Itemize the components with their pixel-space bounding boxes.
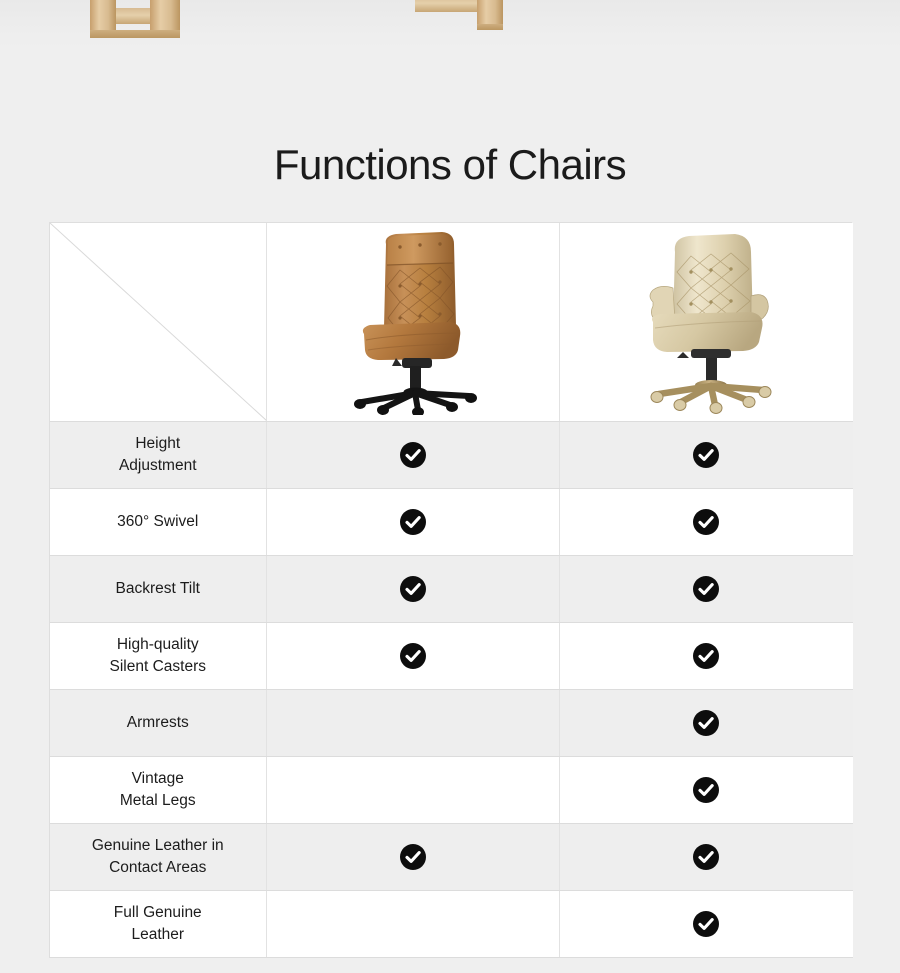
check-circle-icon (400, 643, 426, 669)
check-glyph (693, 777, 719, 803)
check-circle-icon (400, 509, 426, 535)
check-circle-icon (693, 442, 719, 468)
check-circle-icon (693, 643, 719, 669)
check-glyph (693, 509, 719, 535)
table-row: HeightAdjustment (50, 421, 853, 488)
feature-label: Genuine Leather inContact Areas (50, 835, 267, 879)
check-glyph (693, 844, 719, 870)
feature-label-cell: Backrest Tilt (50, 555, 267, 622)
check-circle-icon (400, 576, 426, 602)
feature-supported-cell (560, 622, 853, 689)
feature-supported-cell (560, 890, 853, 957)
feature-supported-cell (560, 421, 853, 488)
feature-label-cell: High-qualitySilent Casters (50, 622, 267, 689)
product-2-header-cell[interactable] (560, 223, 853, 421)
feature-label: HeightAdjustment (50, 433, 267, 477)
page-title-container: Functions of Chairs (0, 48, 900, 222)
feature-label: Armrests (50, 712, 267, 734)
check-glyph (693, 710, 719, 736)
functions-comparison-table: HeightAdjustment360° SwivelBackrest Tilt… (50, 223, 853, 958)
feature-label-cell: Genuine Leather inContact Areas (50, 823, 267, 890)
feature-supported-cell (267, 421, 560, 488)
feature-supported-cell (267, 488, 560, 555)
table-row: VintageMetal Legs (50, 756, 853, 823)
product-2-chair-image (631, 230, 781, 415)
check-glyph (400, 442, 426, 468)
check-glyph (400, 509, 426, 535)
feature-supported-cell (560, 689, 853, 756)
check-circle-icon (400, 844, 426, 870)
feature-supported-cell (560, 823, 853, 890)
table-row: Genuine Leather inContact Areas (50, 823, 853, 890)
feature-supported-cell (267, 823, 560, 890)
empty-cell-placeholder (400, 707, 426, 733)
feature-label-cell: Armrests (50, 689, 267, 756)
feature-supported-cell (560, 488, 853, 555)
check-circle-icon (693, 777, 719, 803)
check-circle-icon (693, 710, 719, 736)
feature-supported-cell (560, 756, 853, 823)
product-1-chair-image (338, 230, 488, 415)
feature-supported-cell (267, 622, 560, 689)
table-row: Backrest Tilt (50, 555, 853, 622)
check-circle-icon (693, 844, 719, 870)
feature-label: 360° Swivel (50, 511, 267, 533)
feature-unsupported-cell (267, 890, 560, 957)
feature-label: High-qualitySilent Casters (50, 634, 267, 678)
feature-label-cell: 360° Swivel (50, 488, 267, 555)
table-row: 360° Swivel (50, 488, 853, 555)
feature-unsupported-cell (267, 689, 560, 756)
empty-cell-placeholder (400, 774, 426, 800)
feature-supported-cell (267, 555, 560, 622)
feature-unsupported-cell (267, 756, 560, 823)
feature-label: VintageMetal Legs (50, 768, 267, 812)
check-circle-icon (693, 576, 719, 602)
product-1-header-cell[interactable] (267, 223, 560, 421)
check-circle-icon (693, 509, 719, 535)
check-glyph (693, 643, 719, 669)
feature-label-cell: HeightAdjustment (50, 421, 267, 488)
table-row: High-qualitySilent Casters (50, 622, 853, 689)
table-row: Full GenuineLeather (50, 890, 853, 957)
feature-label: Backrest Tilt (50, 578, 267, 600)
hero-photo-strip (0, 0, 900, 48)
empty-cell-placeholder (400, 908, 426, 934)
feature-label-cell: Full GenuineLeather (50, 890, 267, 957)
check-glyph (693, 911, 719, 937)
check-glyph (693, 442, 719, 468)
check-circle-icon (400, 442, 426, 468)
feature-supported-cell (560, 555, 853, 622)
corner-cell (50, 223, 267, 421)
table-row: Armrests (50, 689, 853, 756)
table-header-row (50, 223, 853, 421)
diagonal-slash-icon (50, 223, 267, 421)
comparison-table-container: HeightAdjustment360° SwivelBackrest Tilt… (49, 222, 852, 958)
feature-label: Full GenuineLeather (50, 902, 267, 946)
check-circle-icon (693, 911, 719, 937)
check-glyph (693, 576, 719, 602)
check-glyph (400, 576, 426, 602)
page-title: Functions of Chairs (0, 144, 900, 186)
feature-label-cell: VintageMetal Legs (50, 756, 267, 823)
check-glyph (400, 844, 426, 870)
check-glyph (400, 643, 426, 669)
